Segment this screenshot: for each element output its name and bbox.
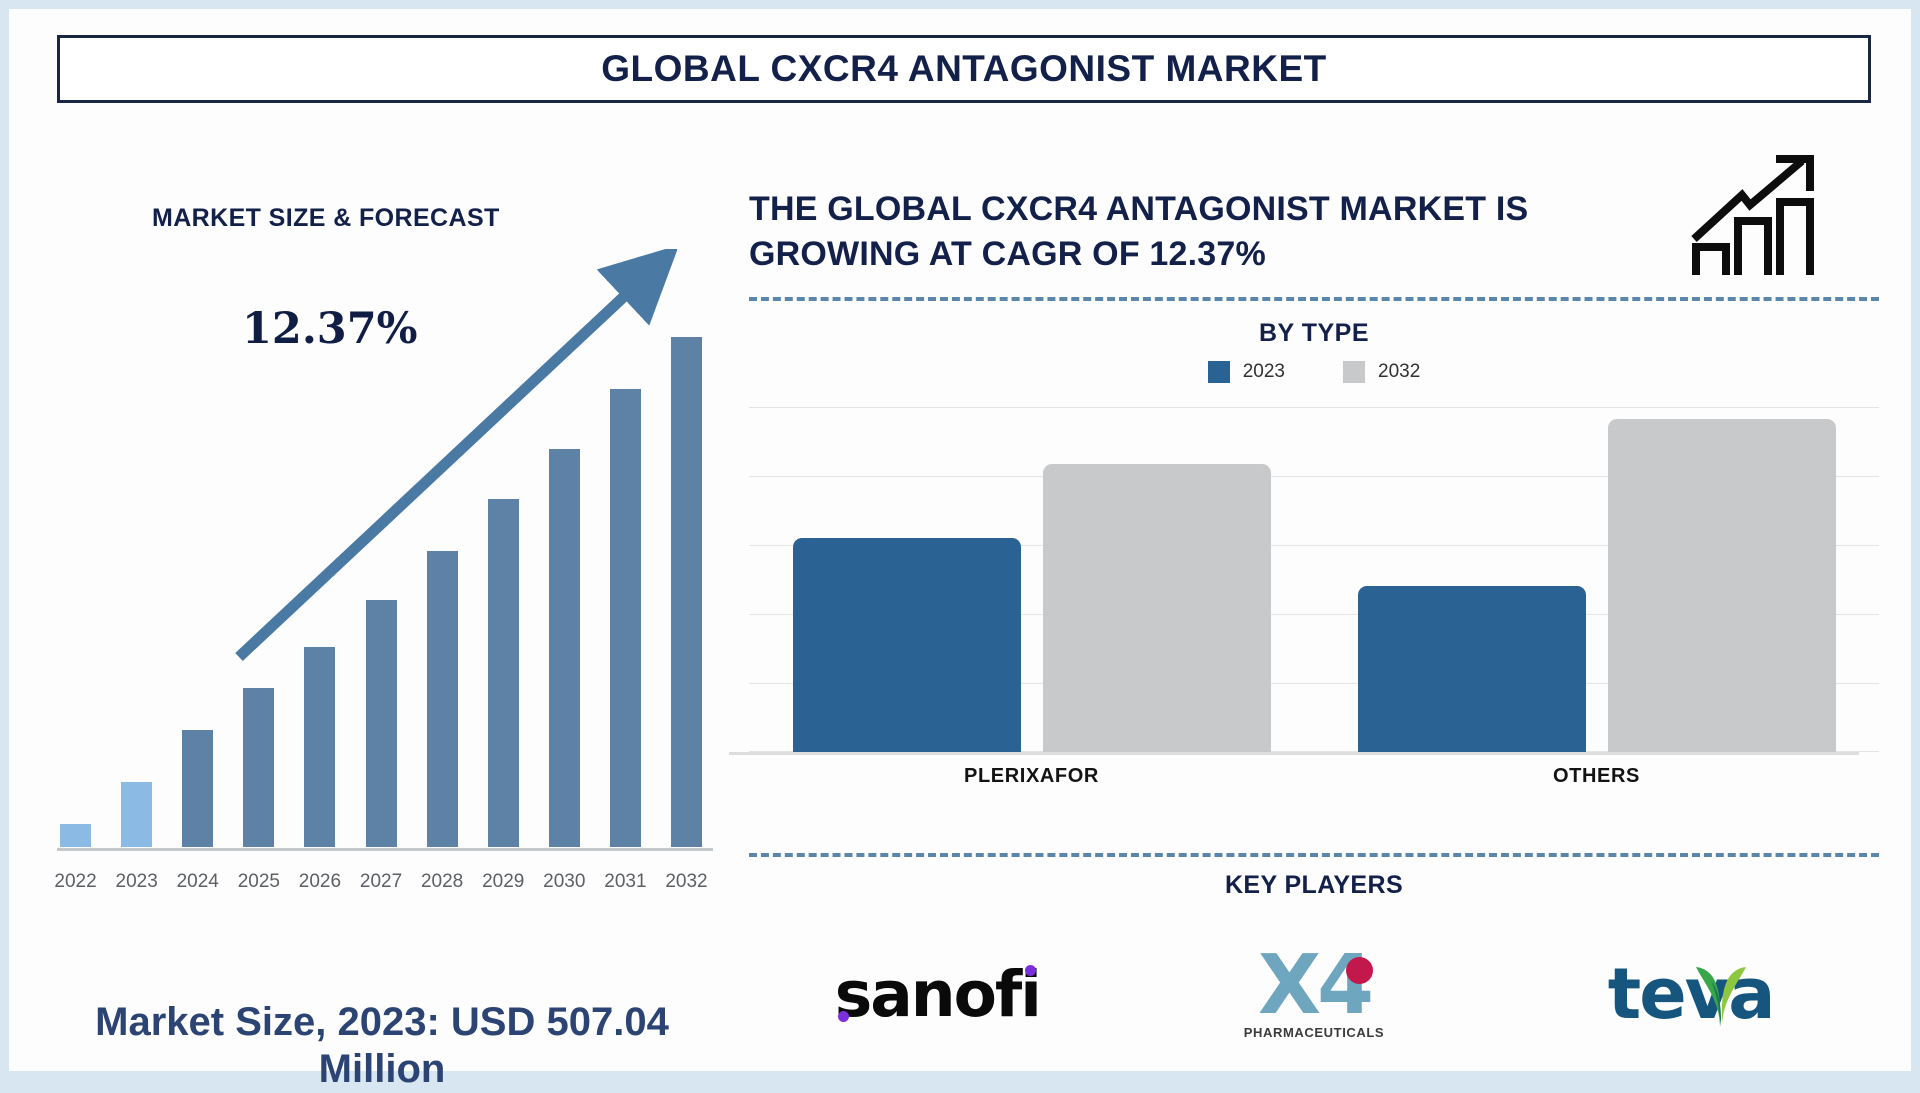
key-players-row: sanofi X4 PHARMACEUTICALS teva [749, 919, 1879, 1069]
x-tick-2025: 2025 [228, 871, 289, 893]
x-tick-2023: 2023 [106, 871, 167, 893]
by-type-baseline [729, 752, 1859, 755]
sanofi-wordmark: sanofi [835, 958, 1040, 1031]
category-label-plerixafor: PLERIXAFOR [793, 765, 1271, 788]
key-players-title: KEY PLAYERS [749, 871, 1879, 900]
sanofi-logo: sanofi [835, 958, 1040, 1031]
teva-logo: teva [1608, 953, 1774, 1035]
bar-slot-2028 [412, 327, 473, 847]
infographic-canvas: GLOBAL CXCR4 ANTAGONIST MARKET MARKET SI… [9, 9, 1911, 1071]
by-type-bars [749, 407, 1879, 752]
key-player-teva: teva [1526, 919, 1856, 1069]
bar-slot-2023 [106, 327, 167, 847]
by-type-legend: 2023 2032 [749, 361, 1879, 383]
title-box: GLOBAL CXCR4 ANTAGONIST MARKET [57, 35, 1871, 103]
section-divider-top [749, 297, 1879, 301]
cagr-headline: THE GLOBAL CXCR4 ANTAGONIST MARKET IS GR… [749, 187, 1659, 277]
x-tick-2030: 2030 [534, 871, 595, 893]
sanofi-dot-left-icon [838, 1011, 849, 1022]
x4-subtitle: PHARMACEUTICALS [1244, 1025, 1384, 1040]
x4-dot-icon [1346, 957, 1373, 984]
bar-slot-2030 [534, 327, 595, 847]
x-tick-2029: 2029 [473, 871, 534, 893]
legend-swatch-2032 [1343, 361, 1365, 383]
infographic-page: GLOBAL CXCR4 ANTAGONIST MARKET MARKET SI… [0, 0, 1920, 1080]
bar-slot-2025 [228, 327, 289, 847]
bar-slot-2032 [656, 327, 717, 847]
bar-others-2023 [1358, 586, 1586, 752]
market-size-bar-chart: 2022 2023 2024 2025 2026 2027 2028 2029 … [45, 319, 717, 939]
growth-bar-chart-arrow-icon [1684, 147, 1824, 282]
bar-slot-2029 [473, 327, 534, 847]
by-type-bar-chart [749, 407, 1879, 752]
x-tick-2026: 2026 [289, 871, 350, 893]
legend-item-2023: 2023 [1208, 361, 1285, 383]
bar-slot-2031 [595, 327, 656, 847]
bar-group-others [1358, 407, 1836, 752]
bar-slot-2022 [45, 327, 106, 847]
teva-leaf-icon [1694, 961, 1748, 1027]
legend-label-2032: 2032 [1378, 361, 1420, 383]
by-type-category-labels: PLERIXAFOR OTHERS [749, 765, 1879, 788]
legend-swatch-2023 [1208, 361, 1230, 383]
bar-slot-2027 [350, 327, 411, 847]
legend-label-2023: 2023 [1243, 361, 1285, 383]
market-size-forecast-heading: MARKET SIZE & FORECAST [152, 204, 500, 233]
by-type-title: BY TYPE [749, 319, 1879, 348]
market-size-forecast-panel: MARKET SIZE & FORECAST 12.37% [27, 119, 717, 1049]
section-divider-bottom [749, 853, 1879, 857]
x-tick-2022: 2022 [45, 871, 106, 893]
x-tick-2024: 2024 [167, 871, 228, 893]
legend-item-2032: 2032 [1343, 361, 1420, 383]
page-title: GLOBAL CXCR4 ANTAGONIST MARKET [601, 48, 1327, 90]
x-axis-line [57, 848, 713, 851]
x4-pharmaceuticals-logo: X4 PHARMACEUTICALS [1244, 948, 1384, 1040]
key-player-x4: X4 PHARMACEUTICALS [1149, 919, 1479, 1069]
bar-group-plerixafor [793, 407, 1271, 752]
market-size-value: Market Size, 2023: USD 507.04 Million [47, 999, 717, 1093]
x-tick-2032: 2032 [656, 871, 717, 893]
bar-slot-2026 [289, 327, 350, 847]
bar-others-2032 [1608, 419, 1836, 752]
x-tick-2031: 2031 [595, 871, 656, 893]
x-axis-tick-labels: 2022 2023 2024 2025 2026 2027 2028 2029 … [45, 871, 717, 893]
x-tick-2028: 2028 [412, 871, 473, 893]
bar-slot-2024 [167, 327, 228, 847]
market-size-bars [45, 327, 717, 847]
teva-wordmark: teva [1608, 953, 1774, 1035]
sanofi-dot-right-icon [1025, 965, 1036, 976]
right-panel: THE GLOBAL CXCR4 ANTAGONIST MARKET IS GR… [729, 119, 1899, 1049]
category-label-others: OTHERS [1358, 765, 1836, 788]
bar-plerixafor-2032 [1043, 464, 1271, 752]
bar-plerixafor-2023 [793, 538, 1021, 752]
key-player-sanofi: sanofi [772, 919, 1102, 1069]
x-tick-2027: 2027 [350, 871, 411, 893]
